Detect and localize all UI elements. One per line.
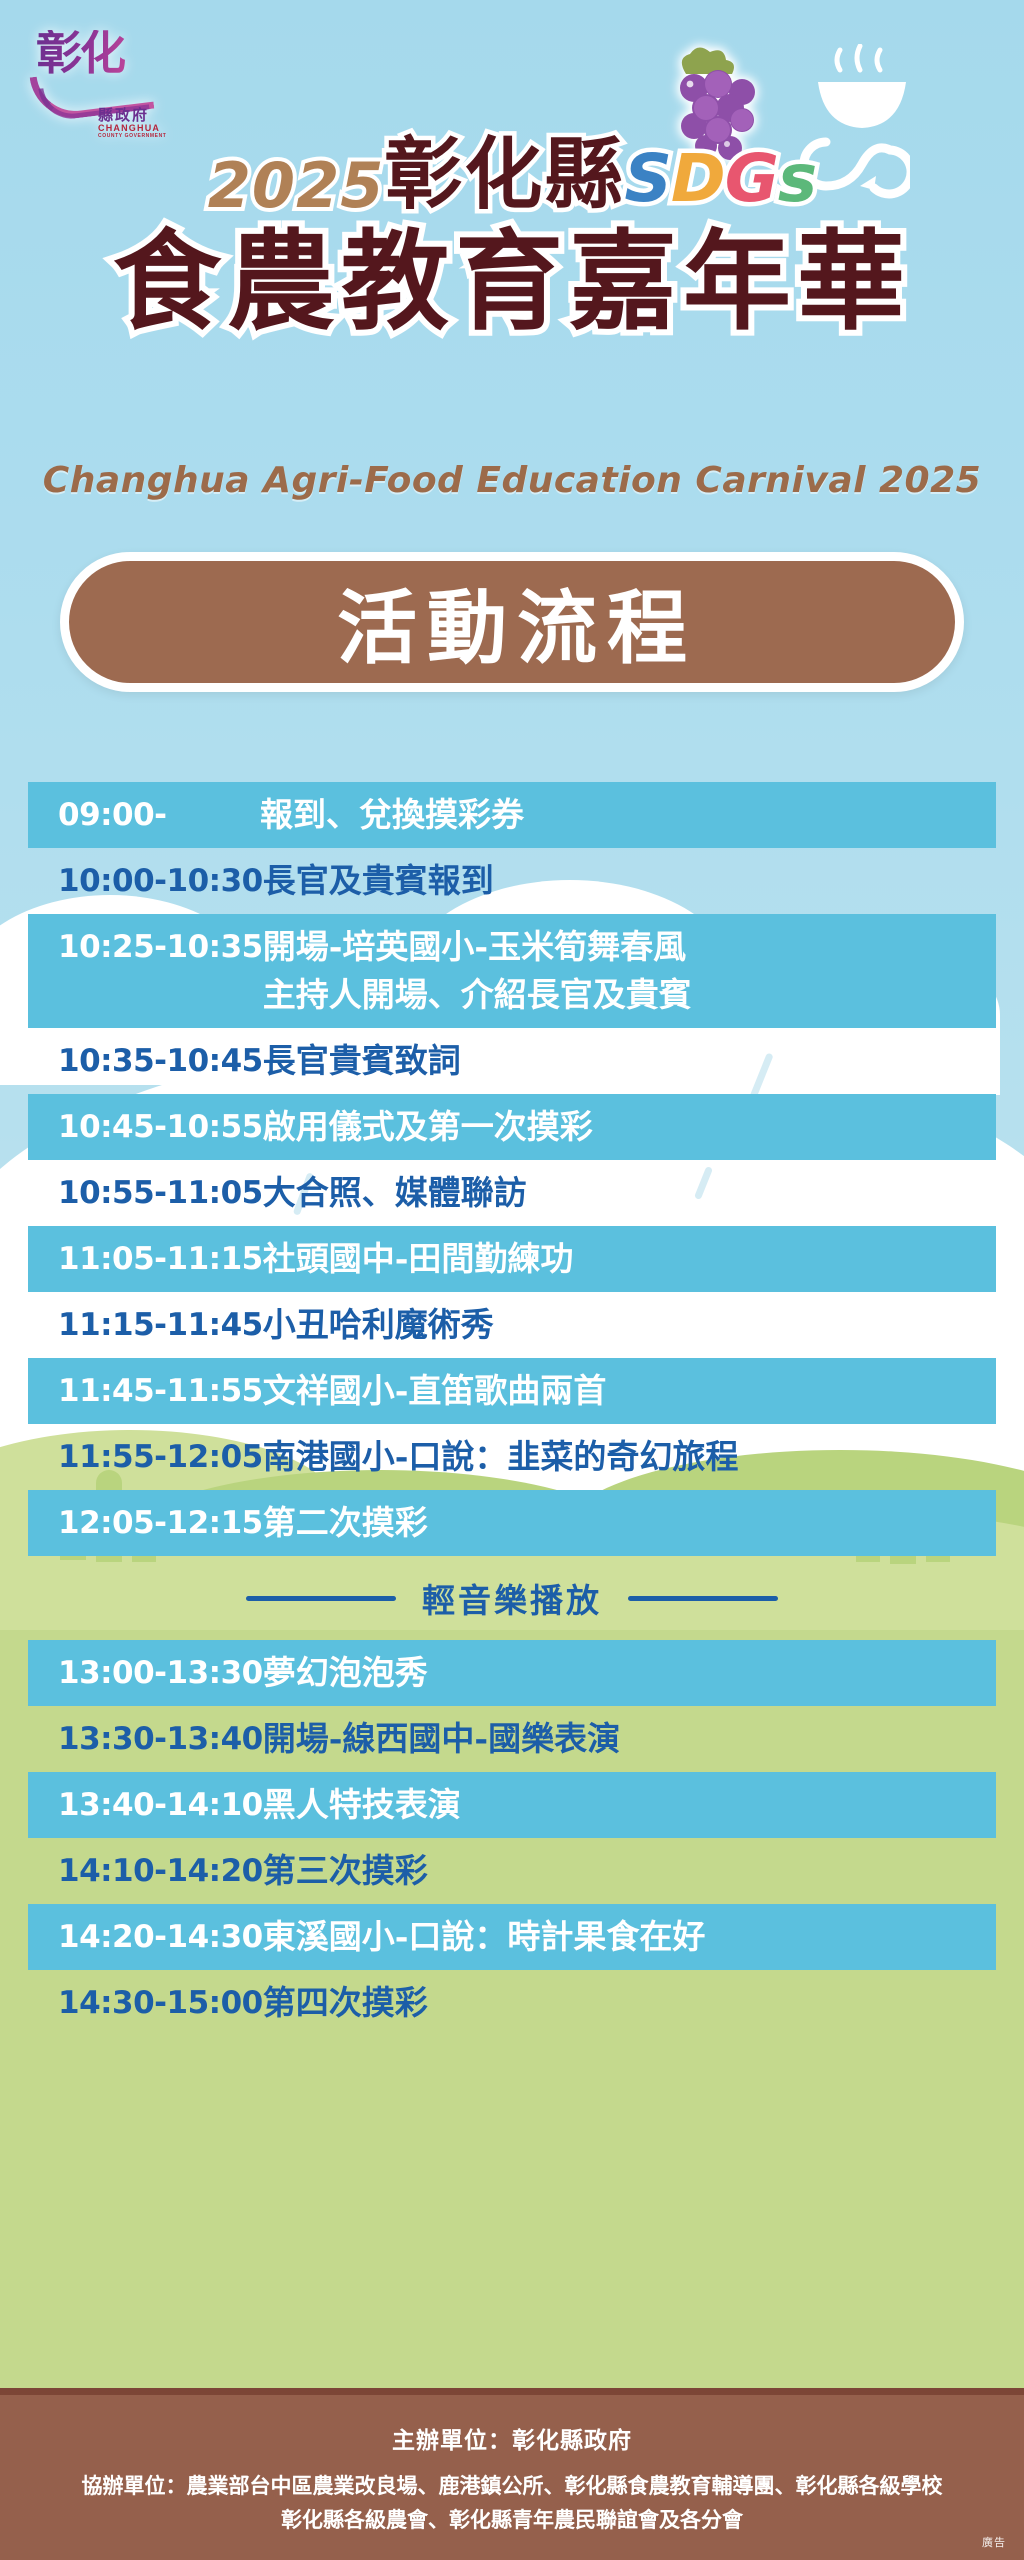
schedule-row-description: 第二次摸彩 — [263, 1499, 996, 1547]
schedule-row-description-line: 小丑哈利魔術秀 — [263, 1301, 980, 1349]
schedule-row-description: 社頭國中-田間勤練功 — [263, 1235, 996, 1283]
schedule-row-description: 南港國小-口說：韭菜的奇幻旅程 — [263, 1433, 996, 1481]
schedule-row: 11:55-12:05南港國小-口說：韭菜的奇幻旅程 — [28, 1424, 996, 1490]
schedule-row-time: 09:00- — [28, 791, 260, 839]
schedule-row-description-line: 啟用儀式及第一次摸彩 — [263, 1103, 980, 1151]
schedule-row-description: 啟用儀式及第一次摸彩 — [263, 1103, 996, 1151]
schedule-row-description: 第四次摸彩 — [263, 1979, 996, 2027]
schedule-row-description-line: 主持人開場、介紹長官及貴賓 — [263, 971, 980, 1019]
schedule-row: 10:45-10:55啟用儀式及第一次摸彩 — [28, 1094, 996, 1160]
schedule-row-description-line: 長官及貴賓報到 — [263, 857, 980, 905]
footer-coorganizers-line1: 協辦單位：農業部台中區農業改良場、鹿港鎮公所、彰化縣食農教育輔導團、彰化縣各級學… — [0, 2469, 1024, 2503]
schedule-row-time: 14:10-14:20 — [28, 1847, 263, 1895]
schedule-row-description-line: 社頭國中-田間勤練功 — [263, 1235, 980, 1283]
schedule-row-time: 12:05-12:15 — [28, 1499, 263, 1547]
schedule-row: 14:30-15:00第四次摸彩 — [28, 1970, 996, 2036]
schedule-row-description-line: 文祥國小-直笛歌曲兩首 — [263, 1367, 980, 1415]
schedule-row-description-line: 夢幻泡泡秀 — [263, 1649, 980, 1697]
schedule-row: 13:40-14:10黑人特技表演 — [28, 1772, 996, 1838]
schedule-row-time: 10:55-11:05 — [28, 1169, 263, 1217]
schedule-row: 11:15-11:45小丑哈利魔術秀 — [28, 1292, 996, 1358]
schedule-row-description-line: 報到、兌換摸彩券 — [260, 791, 980, 839]
footer-ad-mark: 廣告 — [982, 2534, 1006, 2550]
logo-name-cn: 彰化 — [36, 30, 186, 76]
schedule-row-description: 第三次摸彩 — [263, 1847, 996, 1895]
schedule-row-description: 長官及貴賓報到 — [263, 857, 996, 905]
schedule-row-description-line: 大合照、媒體聯訪 — [263, 1169, 980, 1217]
schedule-row-description: 黑人特技表演 — [263, 1781, 996, 1829]
schedule-row: 09:00-報到、兌換摸彩券 — [28, 782, 996, 848]
schedule-row-time: 14:20-14:30 — [28, 1913, 263, 1961]
schedule-row-description: 開場-培英國小-玉米筍舞春風主持人開場、介紹長官及貴賓 — [263, 923, 996, 1019]
footer-coorganizers-line2: 彰化縣各級農會、彰化縣青年農民聯誼會及各分會 — [0, 2503, 1024, 2537]
schedule-row-description: 大合照、媒體聯訪 — [263, 1169, 996, 1217]
schedule-row-description: 開場-線西國中-國樂表演 — [263, 1715, 996, 1763]
schedule-row: 11:45-11:55文祥國小-直笛歌曲兩首 — [28, 1358, 996, 1424]
schedule-row: 10:55-11:05大合照、媒體聯訪 — [28, 1160, 996, 1226]
schedule-row: 10:00-10:30長官及貴賓報到 — [28, 848, 996, 914]
divider-line-left — [246, 1596, 396, 1601]
schedule-row-time: 11:15-11:45 — [28, 1301, 263, 1349]
divider-label: 輕音樂播放 — [422, 1574, 602, 1622]
schedule-row-time: 14:30-15:00 — [28, 1979, 263, 2027]
schedule-row: 13:30-13:40開場-線西國中-國樂表演 — [28, 1706, 996, 1772]
schedule-row: 12:05-12:15第二次摸彩 — [28, 1490, 996, 1556]
schedule-list: 09:00-報到、兌換摸彩券10:00-10:30長官及貴賓報到10:25-10… — [28, 782, 996, 2036]
schedule-row-description-line: 開場-培英國小-玉米筍舞春風 — [263, 923, 980, 971]
schedule-row-time: 13:00-13:30 — [28, 1649, 263, 1697]
headline-subtitle-en: Changhua Agri-Food Education Carnival 20… — [0, 460, 1024, 501]
schedule-row-description: 東溪國小-口說：時計果食在好 — [263, 1913, 996, 1961]
schedule-row-description-line: 長官貴賓致詞 — [263, 1037, 980, 1085]
schedule-row-description: 長官貴賓致詞 — [263, 1037, 996, 1085]
schedule-row: 10:25-10:35開場-培英國小-玉米筍舞春風主持人開場、介紹長官及貴賓 — [28, 914, 996, 1028]
schedule-row-description-line: 第四次摸彩 — [263, 1979, 980, 2027]
section-heading-label: 活動流程 — [327, 564, 697, 680]
schedule-row-description-line: 第三次摸彩 — [263, 1847, 980, 1895]
divider-line-right — [628, 1596, 778, 1601]
schedule-row-time: 13:30-13:40 — [28, 1715, 263, 1763]
footer: 主辦單位：彰化縣政府 協辦單位：農業部台中區農業改良場、鹿港鎮公所、彰化縣食農教… — [0, 2388, 1024, 2560]
poster-root: 彰化 縣政府 CHANGHUA COUNTY GOVERNMENT 20 — [0, 0, 1024, 2560]
schedule-row-description: 文祥國小-直笛歌曲兩首 — [263, 1367, 996, 1415]
schedule-row-time: 10:25-10:35 — [28, 923, 263, 971]
schedule-row-time: 10:35-10:45 — [28, 1037, 263, 1085]
schedule-row: 11:05-11:15社頭國中-田間勤練功 — [28, 1226, 996, 1292]
schedule-row-time: 10:00-10:30 — [28, 857, 263, 905]
schedule-row-description-line: 第二次摸彩 — [263, 1499, 980, 1547]
schedule-row: 14:10-14:20第三次摸彩 — [28, 1838, 996, 1904]
schedule-row-description: 報到、兌換摸彩券 — [260, 791, 996, 839]
schedule-row-time: 11:45-11:55 — [28, 1367, 263, 1415]
schedule-row-description: 夢幻泡泡秀 — [263, 1649, 996, 1697]
schedule-divider-row: 輕音樂播放 — [28, 1556, 996, 1640]
schedule-row: 14:20-14:30東溪國小-口說：時計果食在好 — [28, 1904, 996, 1970]
schedule-row-description-line: 東溪國小-口說：時計果食在好 — [263, 1913, 980, 1961]
footer-organizer: 主辦單位：彰化縣政府 — [0, 2421, 1024, 2455]
schedule-row-time: 13:40-14:10 — [28, 1781, 263, 1829]
schedule-row: 13:00-13:30夢幻泡泡秀 — [28, 1640, 996, 1706]
section-heading-wrap: 活動流程 — [60, 552, 964, 692]
schedule-row: 10:35-10:45長官貴賓致詞 — [28, 1028, 996, 1094]
section-heading-pill: 活動流程 — [60, 552, 964, 692]
schedule-row-description: 小丑哈利魔術秀 — [263, 1301, 996, 1349]
schedule-row-time: 11:55-12:05 — [28, 1433, 263, 1481]
schedule-row-time: 11:05-11:15 — [28, 1235, 263, 1283]
schedule-row-description-line: 黑人特技表演 — [263, 1781, 980, 1829]
schedule-row-description-line: 開場-線西國中-國樂表演 — [263, 1715, 980, 1763]
headline-row-2: 食農教育嘉年華 — [0, 195, 1024, 351]
schedule-row-description-line: 南港國小-口說：韭菜的奇幻旅程 — [263, 1433, 980, 1481]
schedule-row-time: 10:45-10:55 — [28, 1103, 263, 1151]
page-title: 食農教育嘉年華 — [113, 219, 911, 345]
